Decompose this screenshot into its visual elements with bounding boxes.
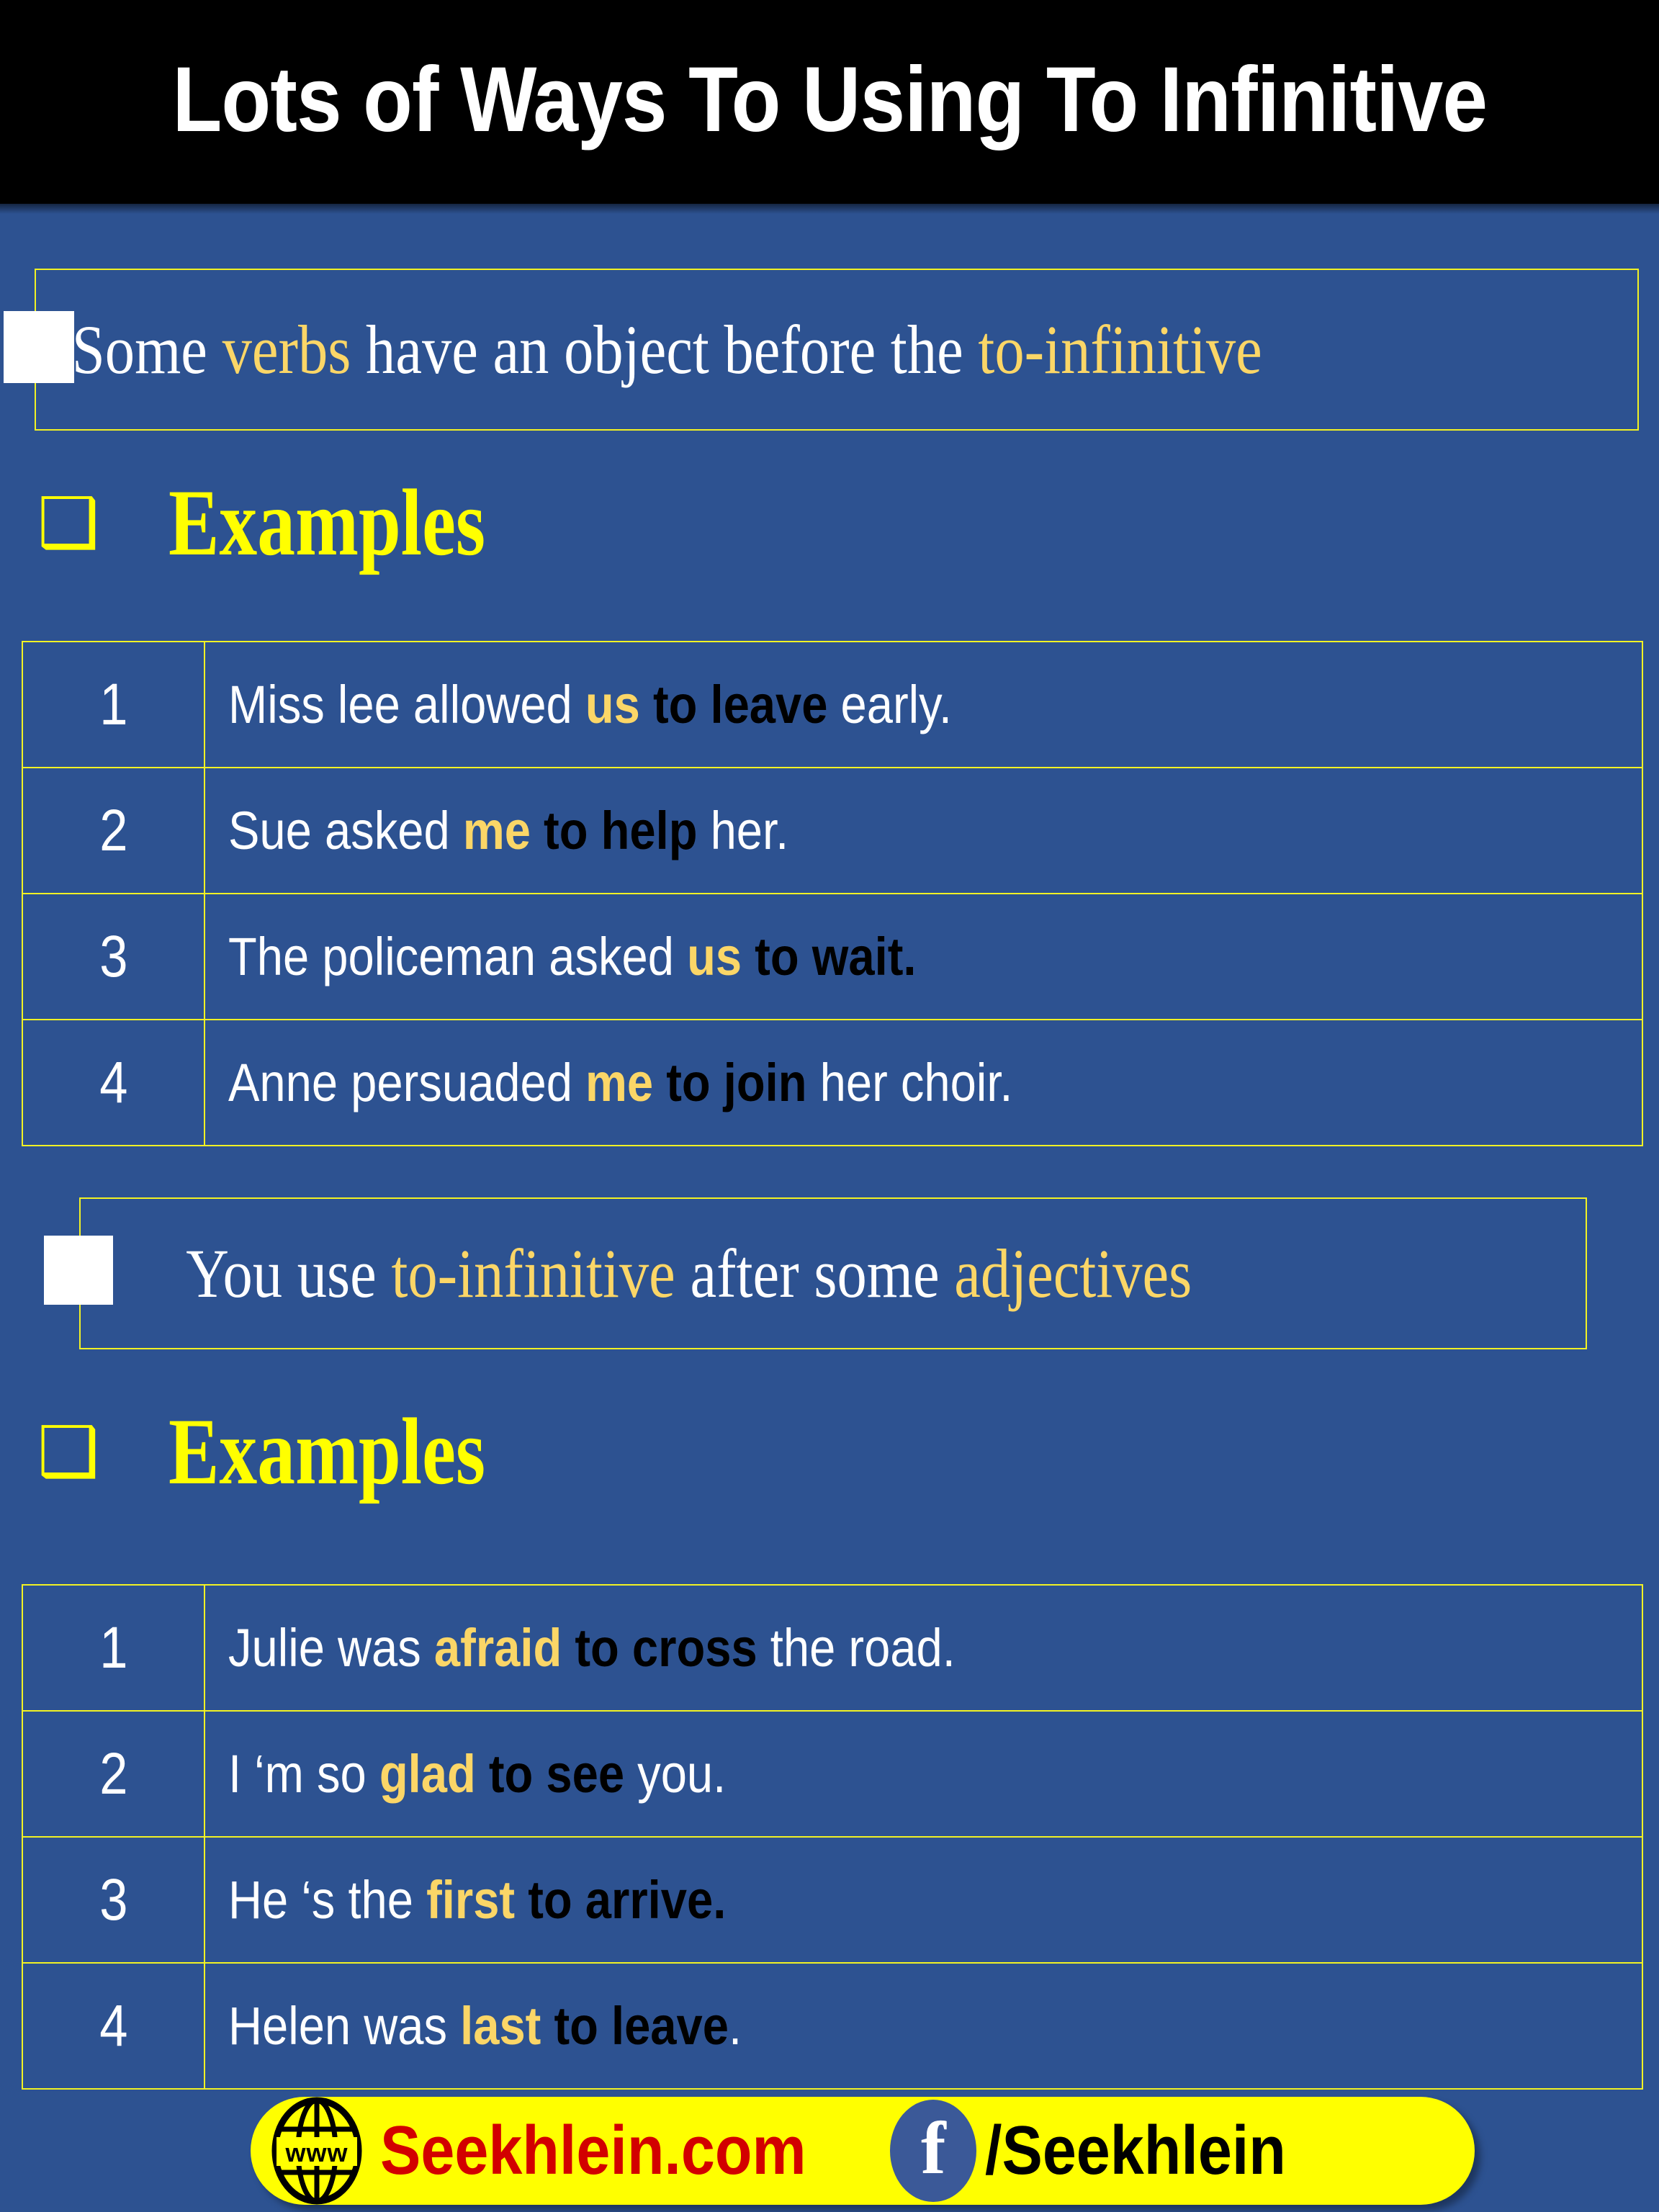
table-row: 4 Helen was last to leave. bbox=[22, 1963, 1642, 2089]
statement-2-part-1: to-infinitive bbox=[391, 1235, 675, 1312]
statement-1-part-2: have an object before the bbox=[351, 311, 978, 388]
sentence-part-infinitive: to join bbox=[653, 1053, 806, 1112]
sentence-part-adjective: first bbox=[426, 1870, 515, 1930]
sentence-part: Miss lee allowed bbox=[228, 675, 585, 734]
row-number: 1 bbox=[99, 675, 127, 734]
sentence-part: you. bbox=[624, 1744, 726, 1804]
statement-1-part-0: Some bbox=[72, 311, 222, 388]
table-row: 2 Sue asked me to help her. bbox=[22, 768, 1642, 894]
row-number: 4 bbox=[99, 1053, 127, 1112]
row-number-cell: 3 bbox=[22, 894, 204, 1020]
statement-text-2: You use to-infinitive after some adjecti… bbox=[81, 1239, 1192, 1308]
examples-label-1: Examples bbox=[168, 475, 485, 570]
examples-heading-1: ❑ Examples bbox=[37, 475, 565, 570]
table-row: 2 I ‘m so glad to see you. bbox=[22, 1711, 1642, 1837]
site-name-label[interactable]: Seekhlein.com bbox=[380, 2116, 806, 2185]
sentence-part-infinitive: to leave bbox=[640, 675, 828, 734]
sentence-part-infinitive: to see bbox=[476, 1744, 624, 1804]
row-number-cell: 3 bbox=[22, 1837, 204, 1963]
title-bar: Lots of Ways To Using To Infinitive bbox=[0, 0, 1659, 204]
row-number-cell: 1 bbox=[22, 642, 204, 768]
sentence-part-adjective: glad bbox=[379, 1744, 476, 1804]
row-sentence-cell: The policeman asked us to wait. bbox=[204, 894, 1642, 1020]
row-sentence: Julie was afraid to cross the road. bbox=[228, 1620, 956, 1676]
row-sentence-cell: Anne persuaded me to join her choir. bbox=[204, 1020, 1642, 1146]
examples-table-1: 1 Miss lee allowed us to leave early. 2 … bbox=[22, 641, 1643, 1146]
table-row: 1 Julie was afraid to cross the road. bbox=[22, 1585, 1642, 1711]
examples-table-2: 1 Julie was afraid to cross the road. 2 … bbox=[22, 1584, 1643, 2090]
sentence-part: her. bbox=[697, 801, 788, 860]
statement-box-1: Some verbs have an object before the to-… bbox=[35, 269, 1639, 431]
row-number: 1 bbox=[99, 1619, 127, 1678]
sentence-part-infinitive: to arrive. bbox=[515, 1870, 726, 1930]
sentence-part: Julie was bbox=[228, 1618, 434, 1678]
statement-1-part-3: to-infinitive bbox=[978, 311, 1262, 388]
footer-branding-bar: www Seekhlein.com f /Seekhlein bbox=[251, 2097, 1475, 2205]
sentence-part: Anne persuaded bbox=[228, 1053, 585, 1112]
white-square-bullet-icon-2 bbox=[44, 1236, 113, 1305]
sentence-part: the road. bbox=[757, 1618, 956, 1678]
table-row: 1 Miss lee allowed us to leave early. bbox=[22, 642, 1642, 768]
row-sentence: Anne persuaded me to join her choir. bbox=[228, 1055, 1013, 1111]
table-row: 4 Anne persuaded me to join her choir. bbox=[22, 1020, 1642, 1146]
sentence-part-adjective: afraid bbox=[434, 1618, 562, 1678]
sentence-part-object: us bbox=[585, 675, 640, 734]
sentence-part: He ‘s the bbox=[228, 1870, 426, 1930]
sentence-part-infinitive: to help bbox=[531, 801, 698, 860]
row-number-cell: 4 bbox=[22, 1963, 204, 2089]
sentence-part: . bbox=[729, 1996, 742, 2056]
examples-label-2: Examples bbox=[168, 1404, 485, 1499]
sentence-part: early. bbox=[827, 675, 952, 734]
row-number-cell: 1 bbox=[22, 1585, 204, 1711]
row-sentence-cell: Miss lee allowed us to leave early. bbox=[204, 642, 1642, 768]
sentence-part-infinitive: to cross bbox=[562, 1618, 757, 1678]
row-number: 4 bbox=[99, 1997, 127, 2056]
sentence-part-infinitive: to wait. bbox=[742, 927, 916, 986]
row-sentence: I ‘m so glad to see you. bbox=[228, 1746, 726, 1802]
hollow-square-bullet-icon-1: ❑ bbox=[37, 488, 99, 557]
row-sentence: He ‘s the first to arrive. bbox=[228, 1872, 726, 1928]
sentence-part-adjective: last bbox=[460, 1996, 541, 2056]
row-sentence-cell: I ‘m so glad to see you. bbox=[204, 1711, 1642, 1837]
page-title: Lots of Ways To Using To Infinitive bbox=[172, 54, 1487, 150]
row-sentence: Helen was last to leave. bbox=[228, 1998, 742, 2054]
table-row: 3 The policeman asked us to wait. bbox=[22, 894, 1642, 1020]
row-sentence-cell: Helen was last to leave. bbox=[204, 1963, 1642, 2089]
examples-heading-2: ❑ Examples bbox=[37, 1404, 565, 1499]
facebook-handle-label[interactable]: /Seekhlein bbox=[985, 2116, 1286, 2185]
row-sentence-cell: He ‘s the first to arrive. bbox=[204, 1837, 1642, 1963]
row-number: 3 bbox=[99, 927, 127, 986]
sentence-part: Sue asked bbox=[228, 801, 463, 860]
row-number: 3 bbox=[99, 1871, 127, 1930]
sentence-part: Helen was bbox=[228, 1996, 460, 2056]
statement-box-2: You use to-infinitive after some adjecti… bbox=[79, 1197, 1587, 1349]
row-number: 2 bbox=[99, 801, 127, 860]
statement-text-1: Some verbs have an object before the to-… bbox=[36, 315, 1262, 385]
white-square-bullet-icon-1 bbox=[4, 311, 74, 383]
row-number: 2 bbox=[99, 1745, 127, 1804]
statement-1-part-1: verbs bbox=[222, 311, 351, 388]
row-sentence-cell: Julie was afraid to cross the road. bbox=[204, 1585, 1642, 1711]
svg-text:www: www bbox=[284, 2138, 348, 2167]
statement-2-part-2: after some bbox=[675, 1235, 954, 1312]
sentence-part-infinitive: to leave bbox=[541, 1996, 729, 2056]
statement-2-part-0: You use bbox=[186, 1235, 391, 1312]
row-sentence: Sue asked me to help her. bbox=[228, 803, 788, 859]
statement-2-part-3: adjectives bbox=[954, 1235, 1192, 1312]
sentence-part: The policeman asked bbox=[228, 927, 687, 986]
sentence-part-object: me bbox=[585, 1053, 653, 1112]
facebook-f-glyph: f bbox=[890, 2100, 976, 2202]
facebook-icon[interactable]: f bbox=[890, 2100, 976, 2202]
table-row: 3 He ‘s the first to arrive. bbox=[22, 1837, 1642, 1963]
globe-www-icon: www bbox=[266, 2097, 367, 2205]
row-sentence: Miss lee allowed us to leave early. bbox=[228, 677, 952, 733]
sentence-part: I ‘m so bbox=[228, 1744, 379, 1804]
row-number-cell: 2 bbox=[22, 768, 204, 894]
sentence-part-object: me bbox=[463, 801, 531, 860]
row-sentence-cell: Sue asked me to help her. bbox=[204, 768, 1642, 894]
hollow-square-bullet-icon-2: ❑ bbox=[37, 1417, 99, 1486]
sentence-part: her choir. bbox=[807, 1053, 1013, 1112]
sentence-part-object: us bbox=[687, 927, 742, 986]
row-number-cell: 4 bbox=[22, 1020, 204, 1146]
row-number-cell: 2 bbox=[22, 1711, 204, 1837]
row-sentence: The policeman asked us to wait. bbox=[228, 929, 916, 985]
